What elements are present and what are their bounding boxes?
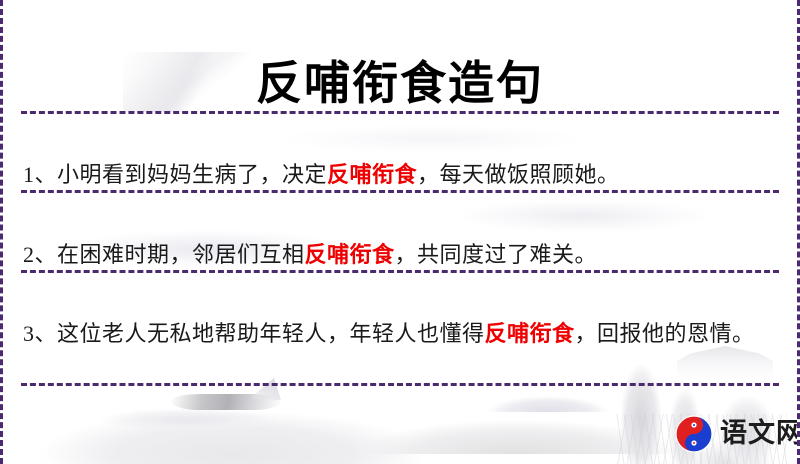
divider-top — [21, 111, 779, 114]
sentence-2-text-after: ，共同度过了难关。 — [395, 242, 598, 267]
sentence-2-number: 2、 — [23, 242, 57, 267]
sentence-item-3: 3、这位老人无私地帮助年轻人，年轻人也懂得反哺衔食，回报他的恩情。 — [23, 314, 775, 353]
page-title: 反哺衔食造句 — [3, 53, 797, 113]
sentence-1-text-before: 小明看到妈妈生病了，决定 — [57, 162, 327, 187]
sentence-1-number: 1、 — [23, 162, 57, 187]
divider-bottom — [21, 383, 779, 386]
sentence-3-text-after: ，回报他的恩情。 — [575, 321, 755, 346]
sentence-3-idiom: 反哺衔食 — [485, 321, 575, 346]
sentence-item-2: 2、在困难时期，邻居们互相反哺衔食，共同度过了难关。 — [23, 235, 775, 274]
sentence-2-text-before: 在困难时期，邻居们互相 — [57, 242, 305, 267]
sentence-3-text-before: 这位老人无私地帮助年轻人，年轻人也懂得 — [57, 321, 485, 346]
site-logo-text: 语文网 — [720, 419, 800, 449]
site-logo[interactable]: 语文网 — [674, 414, 800, 454]
sentence-3-number: 3、 — [23, 321, 57, 346]
sentence-worksheet-page: 反哺衔食造句 1、小明看到妈妈生病了，决定反哺衔食，每天做饭照顾她。 2、在困难… — [0, 0, 800, 464]
sentence-item-1: 1、小明看到妈妈生病了，决定反哺衔食，每天做饭照顾她。 — [23, 155, 775, 194]
sentence-1-text-after: ，每天做饭照顾她。 — [417, 162, 620, 187]
divider-after-sentence-2 — [21, 270, 779, 273]
sentence-1-idiom: 反哺衔食 — [327, 162, 417, 187]
yinyang-logo-icon — [674, 414, 714, 454]
divider-after-sentence-1 — [21, 190, 779, 193]
sentence-2-idiom: 反哺衔食 — [305, 242, 395, 267]
